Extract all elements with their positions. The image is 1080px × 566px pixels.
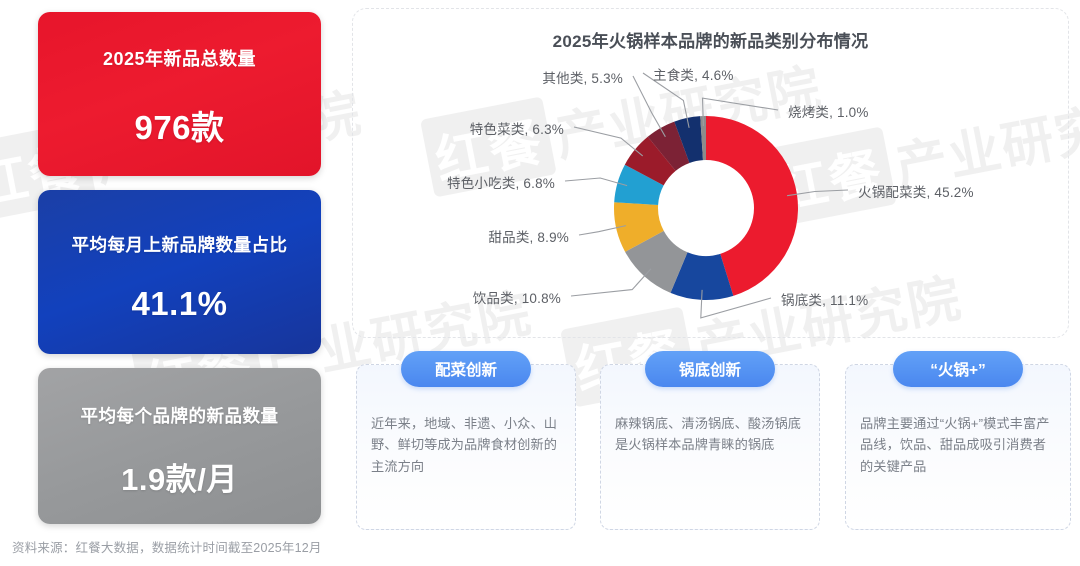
- kpi-card-avg-per-brand: 平均每个品牌的新品数量 1.9款/月: [38, 368, 321, 524]
- pie-slice-label: 烧烤类, 1.0%: [788, 101, 869, 121]
- source-footnote: 资料来源：红餐大数据，数据统计时间截至2025年12月: [12, 537, 322, 556]
- insight-body: 近年来，地域、非遗、小众、山野、鲜切等成为品牌食材创新的主流方向: [371, 413, 563, 477]
- donut-chart: 火锅配菜类, 45.2%锅底类, 11.1%饮品类, 10.8%甜品类, 8.9…: [353, 9, 1070, 339]
- kpi-value: 41.1%: [131, 285, 227, 323]
- kpi-label: 平均每月上新品牌数量占比: [72, 232, 288, 257]
- pie-slice-label: 特色小吃类, 6.8%: [447, 172, 555, 192]
- insight-body: 麻辣锅底、清汤锅底、酸汤锅底是火锅样本品牌青睐的锅底: [615, 413, 807, 456]
- insight-title-pill: 配菜创新: [401, 351, 531, 387]
- pie-slice-label: 特色菜类, 6.3%: [470, 118, 564, 138]
- kpi-value: 976款: [134, 101, 224, 149]
- insight-title-pill: 锅底创新: [645, 351, 775, 387]
- kpi-value: 1.9款/月: [121, 454, 238, 499]
- pie-slice-label: 甜品类, 8.9%: [488, 226, 569, 246]
- pie-slice-label: 主食类, 4.6%: [653, 64, 734, 84]
- kpi-label: 2025年新品总数量: [103, 45, 256, 71]
- kpi-label: 平均每个品牌的新品数量: [81, 403, 279, 428]
- insight-body: 品牌主要通过“火锅+”模式丰富产品线，饮品、甜品成吸引消费者的关键产品: [860, 413, 1058, 477]
- kpi-card-monthly-brand-share: 平均每月上新品牌数量占比 41.1%: [38, 190, 321, 354]
- chart-panel: 2025年火锅样本品牌的新品类别分布情况 火锅配菜类, 45.2%锅底类, 11…: [352, 8, 1069, 338]
- pie-slice-label: 饮品类, 10.8%: [473, 287, 561, 307]
- donut-leader-line: [574, 127, 643, 156]
- insight-card-soup-base-innovation: 锅底创新 麻辣锅底、清汤锅底、酸汤锅底是火锅样本品牌青睐的锅底: [600, 364, 820, 530]
- insight-card-hotpot-plus: “火锅+” 品牌主要通过“火锅+”模式丰富产品线，饮品、甜品成吸引消费者的关键产…: [845, 364, 1071, 530]
- insight-title-pill: “火锅+”: [893, 351, 1023, 387]
- insight-card-side-dish-innovation: 配菜创新 近年来，地域、非遗、小众、山野、鲜切等成为品牌食材创新的主流方向: [356, 364, 576, 530]
- pie-slice-label: 其他类, 5.3%: [542, 67, 623, 87]
- donut-leader-line: [571, 269, 651, 296]
- donut-slices: [614, 116, 798, 300]
- kpi-card-total-new-products: 2025年新品总数量 976款: [38, 12, 321, 176]
- pie-slice-label: 火锅配菜类, 45.2%: [858, 181, 974, 201]
- pie-slice-label: 锅底类, 11.1%: [781, 289, 868, 309]
